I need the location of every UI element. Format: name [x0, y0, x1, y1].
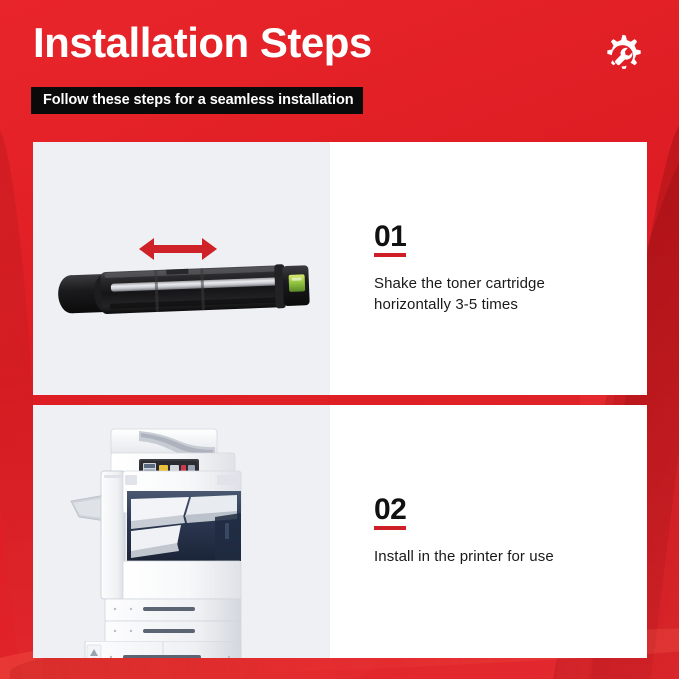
- printer-base-icon: [65, 641, 297, 658]
- subtitle-text: Follow these steps for a seamless instal…: [43, 92, 353, 108]
- step-card-2: 02 Install in the printer for use: [33, 405, 647, 658]
- step-1-text: Shake the toner cartridge horizontally 3…: [374, 273, 614, 316]
- step-card-1: 01 Shake the toner cartridge horizontall…: [33, 142, 647, 395]
- header: Installation Steps Follow these steps fo…: [0, 0, 679, 142]
- step-2-number: 02: [374, 495, 406, 530]
- subtitle-banner: Follow these steps for a seamless instal…: [31, 87, 363, 114]
- page-title: Installation Steps: [33, 22, 372, 64]
- step-2-body: 02 Install in the printer for use: [330, 405, 647, 658]
- toner-cartridge-icon: [49, 255, 317, 321]
- step-1-number: 01: [374, 222, 406, 257]
- step-2-image-panel: [33, 405, 330, 658]
- step-2-text: Install in the printer for use: [374, 546, 614, 567]
- gear-wrench-icon: [598, 31, 646, 79]
- printer-icon: [65, 413, 297, 653]
- step-1-body: 01 Shake the toner cartridge horizontall…: [330, 142, 647, 395]
- step-1-image-panel: [33, 142, 330, 395]
